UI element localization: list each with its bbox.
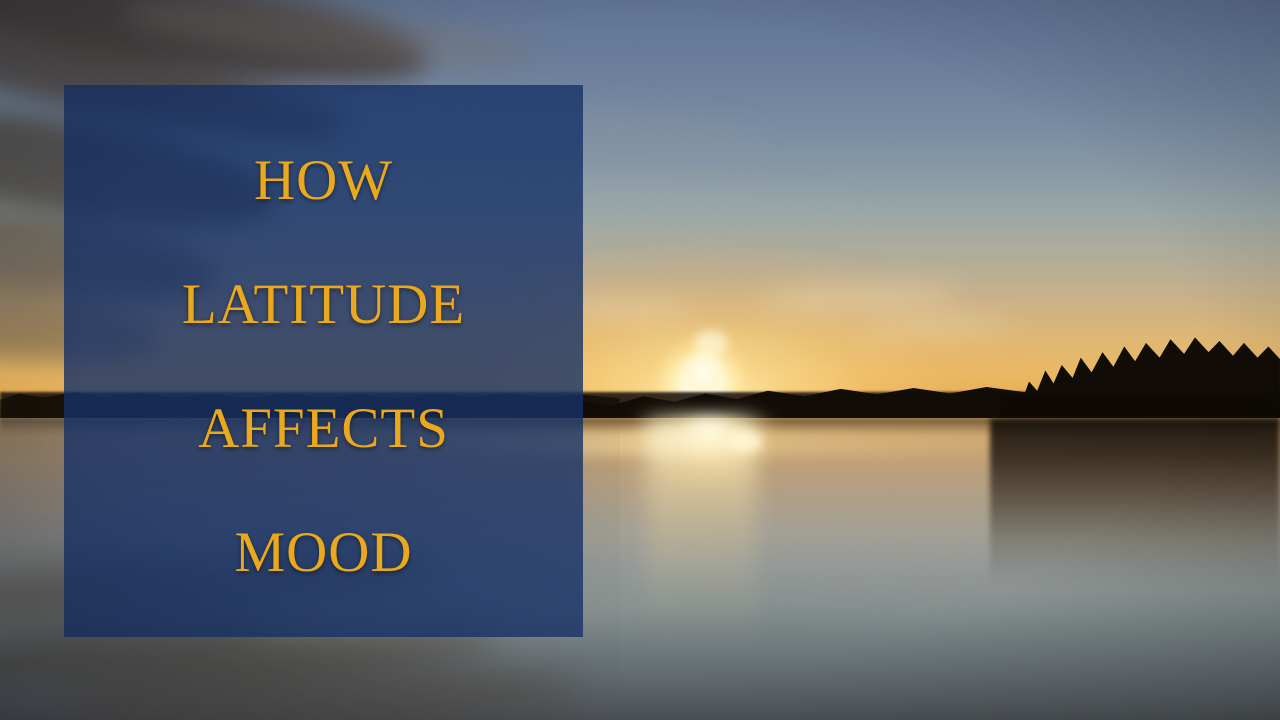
title-line-affects: Affects (198, 379, 449, 461)
title-line-mood: Mood (234, 503, 412, 585)
sun-disc (682, 352, 724, 394)
video-thumbnail: How Latitude Affects Mood (0, 0, 1280, 720)
pine-reflection (990, 418, 1280, 588)
sun-glitter-spot (728, 432, 762, 452)
title-line-how: How (254, 131, 393, 213)
title-overlay-panel: How Latitude Affects Mood (64, 85, 583, 637)
title-line-latitude: Latitude (182, 255, 465, 337)
